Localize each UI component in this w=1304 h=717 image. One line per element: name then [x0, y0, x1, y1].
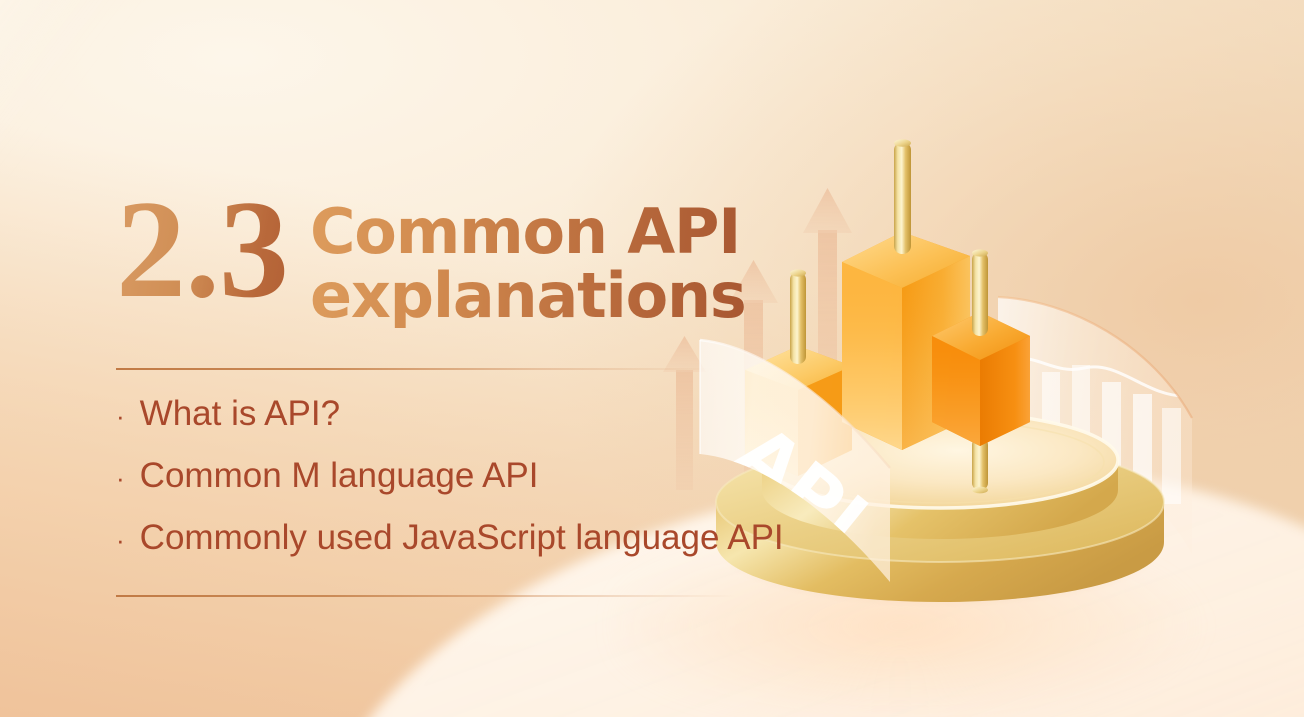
gold-rod-left: [790, 269, 806, 364]
list-item[interactable]: · Commonly used JavaScript language API: [116, 520, 784, 555]
bullet-dot-icon: ·: [116, 527, 125, 553]
gold-rod-right-lower: [972, 438, 988, 493]
bullet-dot-icon: ·: [116, 403, 125, 429]
divider-bottom: [116, 595, 736, 597]
ribbon-bar-6: [1162, 408, 1181, 504]
bullet-dot-icon: ·: [116, 465, 125, 491]
list-item-label: Common M language API: [140, 458, 539, 493]
section-number: 2.3: [116, 186, 310, 315]
gold-rod-center: [894, 139, 911, 254]
gold-rod-right-upper: [972, 249, 988, 336]
headline-block: 2.3 Common API explanations: [116, 186, 746, 328]
divider-top: [116, 368, 716, 370]
slide-canvas: 2.3 Common API explanations · What is AP…: [0, 0, 1304, 717]
list-item[interactable]: · Common M language API: [116, 458, 784, 493]
list-item-label: What is API?: [140, 396, 340, 431]
list-item[interactable]: · What is API?: [116, 396, 784, 431]
page-title: Common API explanations: [310, 200, 746, 328]
list-item-label: Commonly used JavaScript language API: [140, 520, 784, 555]
topic-list: · What is API? · Common M language API ·…: [116, 396, 784, 555]
